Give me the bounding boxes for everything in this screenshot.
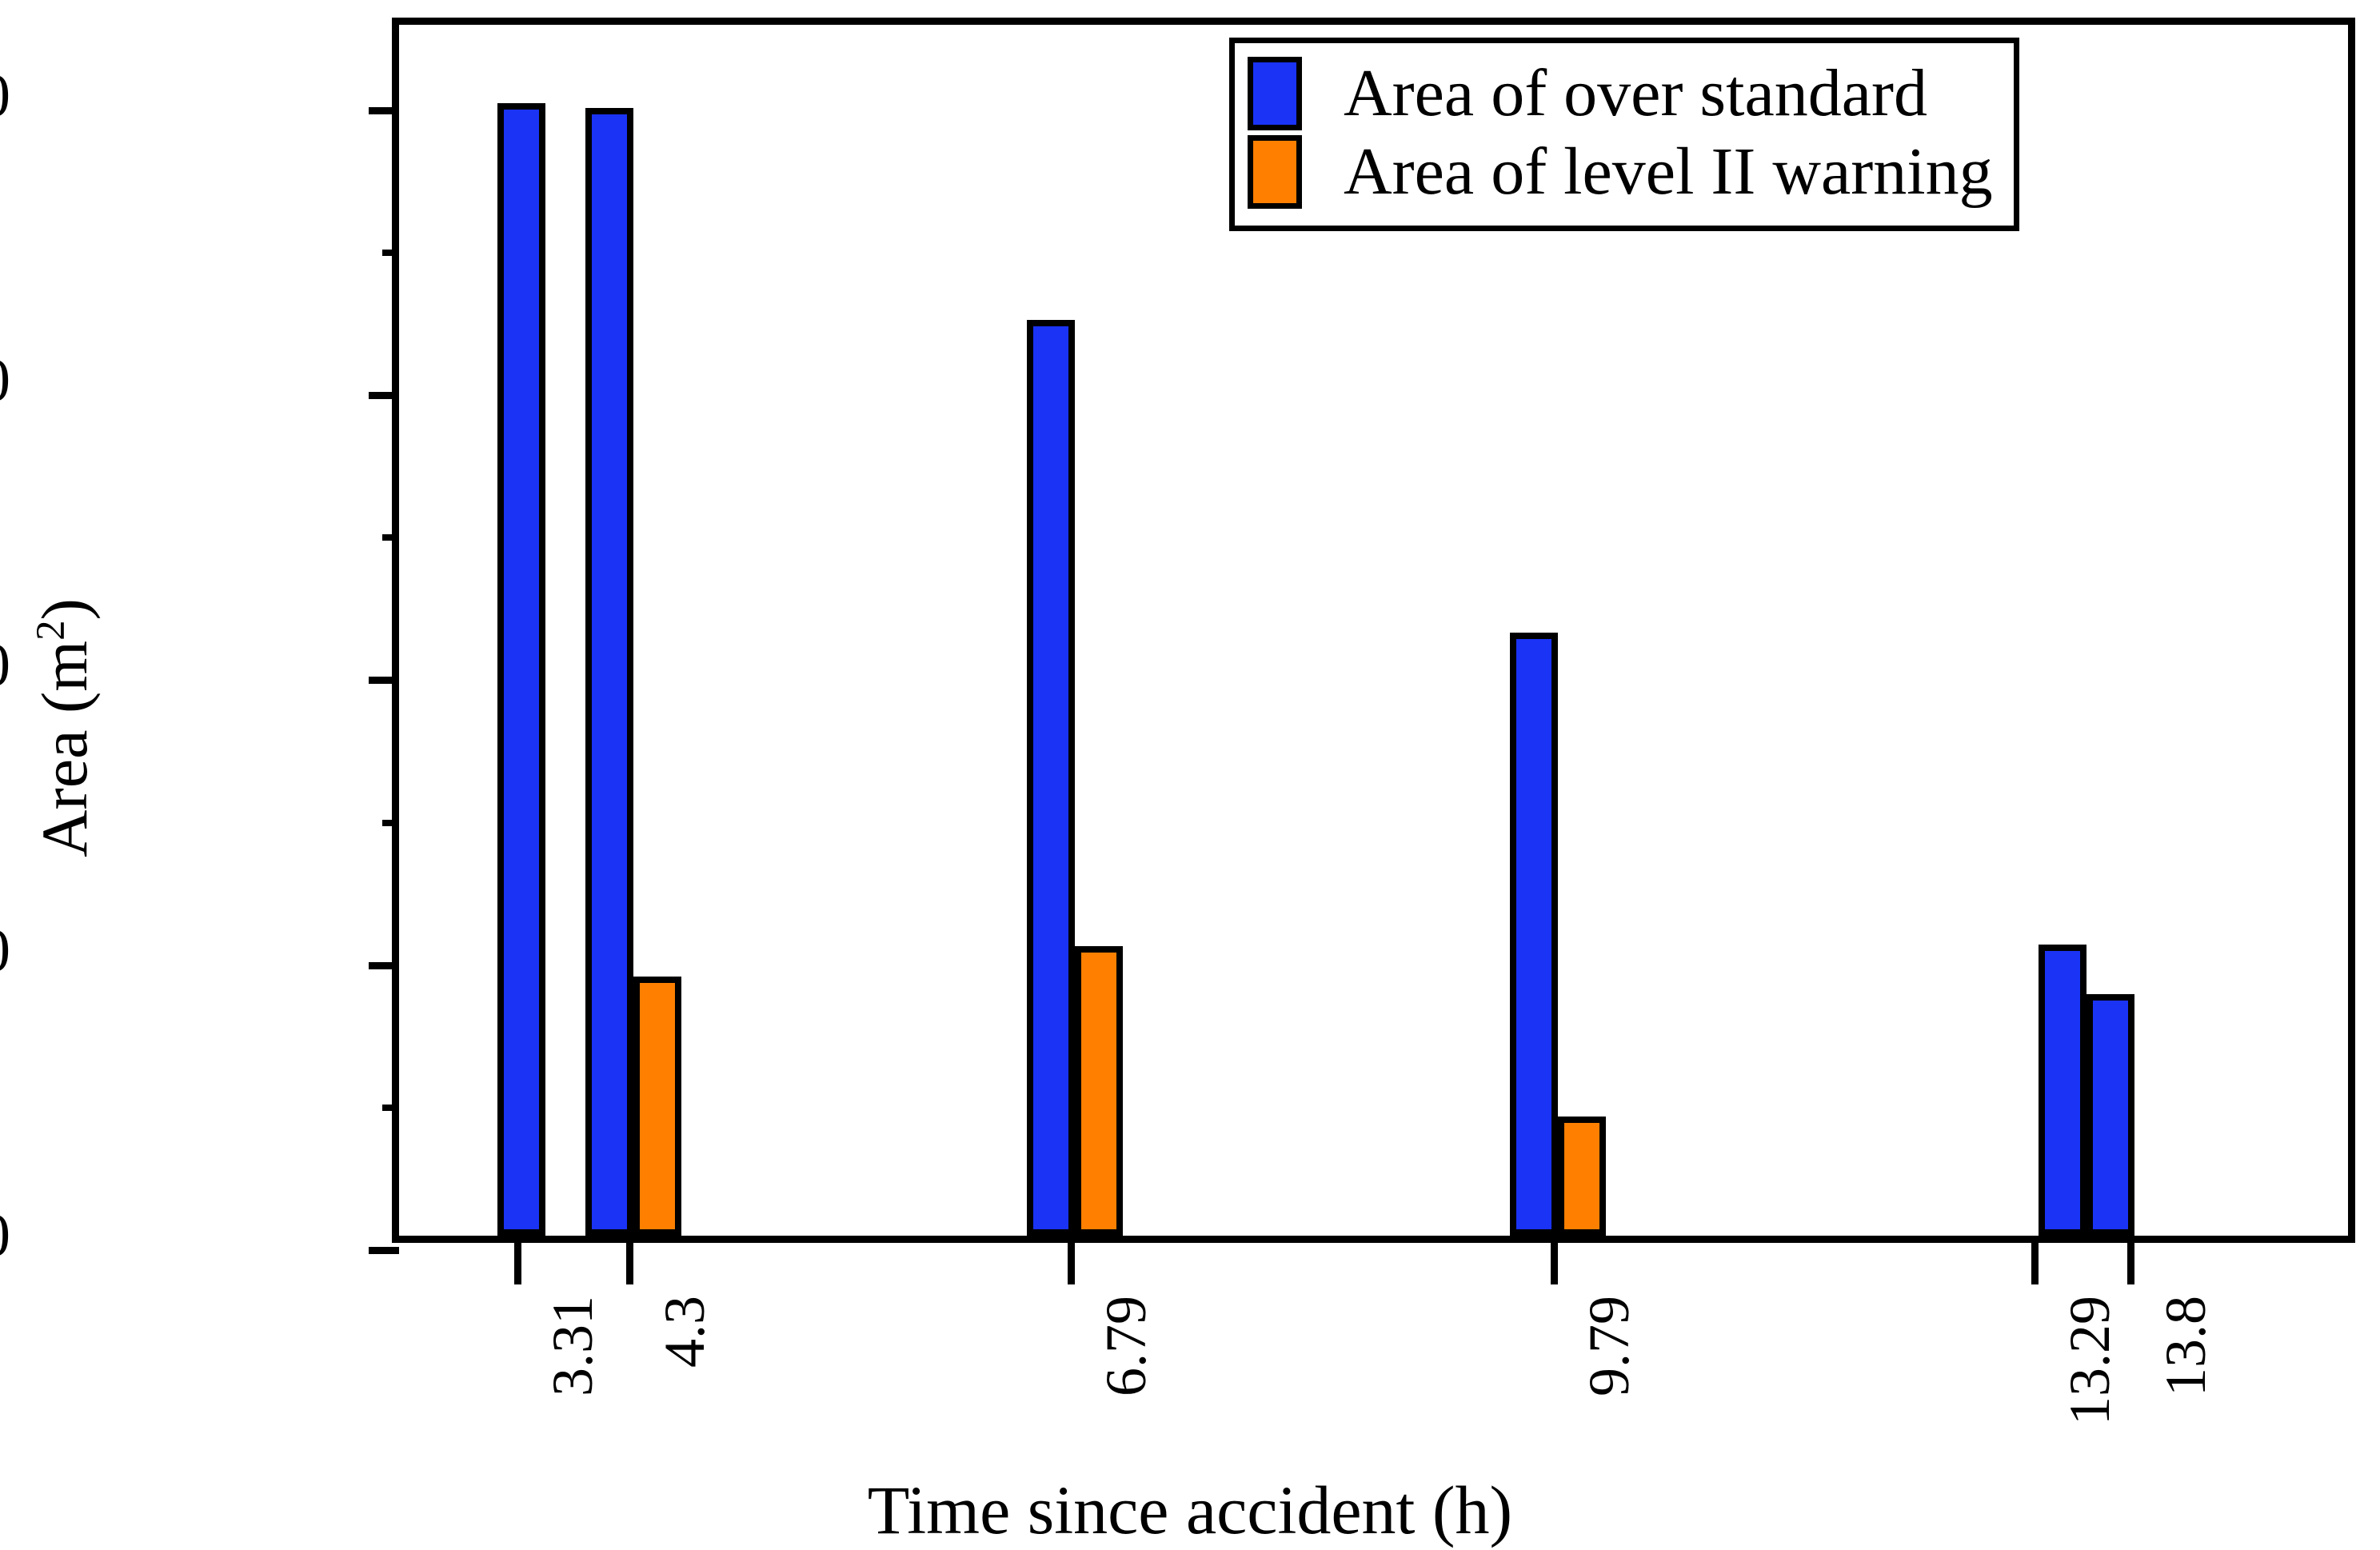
bar-3.31-over-standard[interactable]: [497, 103, 545, 1236]
legend-label: Area of over standard: [1344, 60, 1927, 127]
x-axis-tick: [514, 1243, 521, 1284]
legend-swatch-level-ii-warning: [1248, 135, 1302, 209]
y-axis-title-superscript: 2: [28, 620, 73, 640]
bar-13.29-over-standard[interactable]: [2039, 945, 2086, 1236]
bar-4.3-level-ii-warning[interactable]: [633, 977, 681, 1236]
y-axis-tick-label: 160, 000: [0, 62, 11, 131]
y-axis-tick-major: [369, 677, 399, 684]
y-axis-tick-label: 80, 000: [0, 631, 11, 701]
y-axis-tick-label: 0: [0, 1201, 11, 1271]
x-axis-tick: [2031, 1243, 2039, 1284]
y-axis-title-tail: ): [28, 598, 101, 620]
bar-9.79-level-ii-warning[interactable]: [1558, 1117, 1606, 1236]
legend-label: Area of level II warning: [1344, 138, 1993, 206]
x-axis-tick-label: 6.79: [1093, 1296, 1160, 1396]
x-axis-tick-label: 3.31: [540, 1296, 606, 1396]
legend-swatch-over-standard: [1248, 57, 1302, 130]
legend-item[interactable]: Area of over standard: [1248, 54, 1993, 133]
y-axis-title-main: Area (m: [28, 641, 101, 857]
y-axis-tick-minor: [382, 1105, 399, 1111]
chart-figure: Area (m2) 040, 00080, 000120, 000160, 00…: [0, 0, 2380, 1550]
bar-13.8-over-standard[interactable]: [2086, 994, 2134, 1236]
x-axis-tick-label: 4.3: [652, 1296, 718, 1368]
bar-6.79-level-ii-warning[interactable]: [1075, 946, 1123, 1236]
y-axis-tick-label: 40, 000: [0, 917, 11, 986]
x-axis-tick-label: 13.29: [2057, 1296, 2123, 1425]
y-axis-tick-major: [369, 962, 399, 969]
bar-6.79-over-standard[interactable]: [1027, 320, 1075, 1236]
y-axis-tick-minor: [382, 534, 399, 541]
x-axis-tick: [626, 1243, 633, 1284]
x-axis-tick: [1068, 1243, 1075, 1284]
y-axis-tick-label: 120, 000: [0, 346, 11, 416]
y-axis-title: Area (m2): [27, 598, 102, 857]
y-axis-title-wrapper: Area (m2): [21, 448, 109, 1008]
y-axis-tick-major: [369, 107, 399, 114]
bar-9.79-over-standard[interactable]: [1510, 633, 1558, 1236]
chart-legend: Area of over standardArea of level II wa…: [1229, 38, 2019, 231]
x-axis-tick-label: 9.79: [1576, 1296, 1643, 1396]
y-axis-tick-minor: [382, 820, 399, 826]
x-axis-title: Time since accident (h): [0, 1470, 2380, 1550]
y-axis-tick-major: [369, 392, 399, 399]
bar-4.3-over-standard[interactable]: [585, 108, 633, 1236]
x-axis-tick-label: 13.8: [2153, 1296, 2219, 1396]
x-axis-tick: [1551, 1243, 1558, 1284]
y-axis-tick-minor: [382, 250, 399, 256]
legend-item[interactable]: Area of level II warning: [1248, 133, 1993, 211]
x-axis-tick: [2127, 1243, 2134, 1284]
